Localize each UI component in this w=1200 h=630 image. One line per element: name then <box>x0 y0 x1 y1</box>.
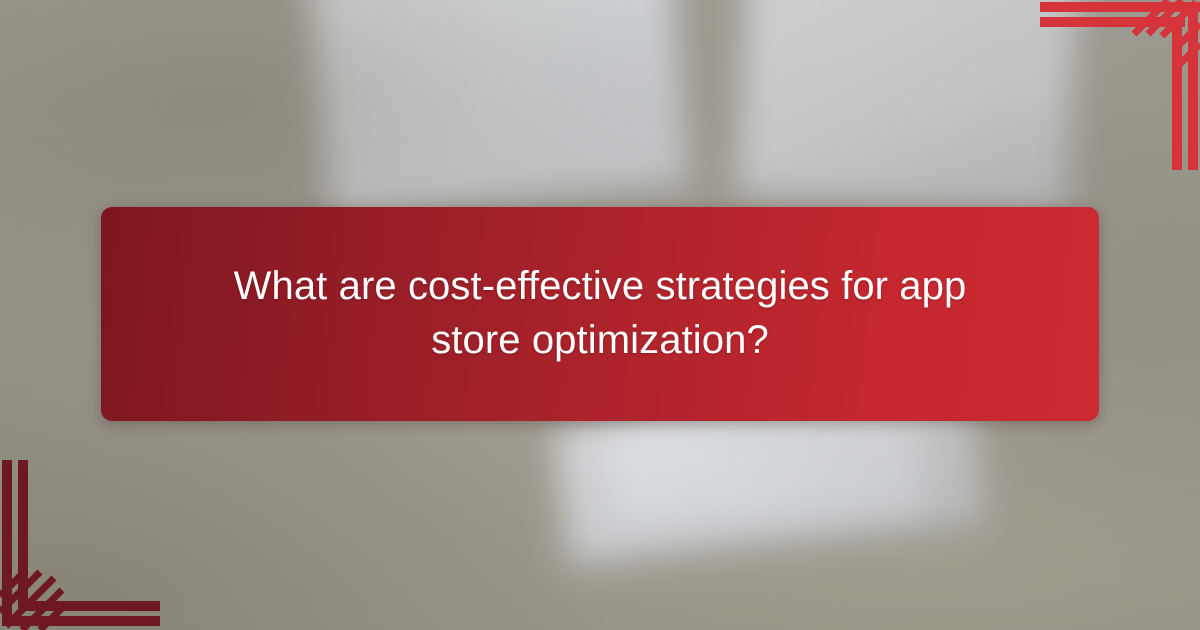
headline-banner: What are cost-effective strategies for a… <box>101 207 1099 421</box>
social-card: What are cost-effective strategies for a… <box>0 0 1200 630</box>
page-title: What are cost-effective strategies for a… <box>200 260 1000 367</box>
